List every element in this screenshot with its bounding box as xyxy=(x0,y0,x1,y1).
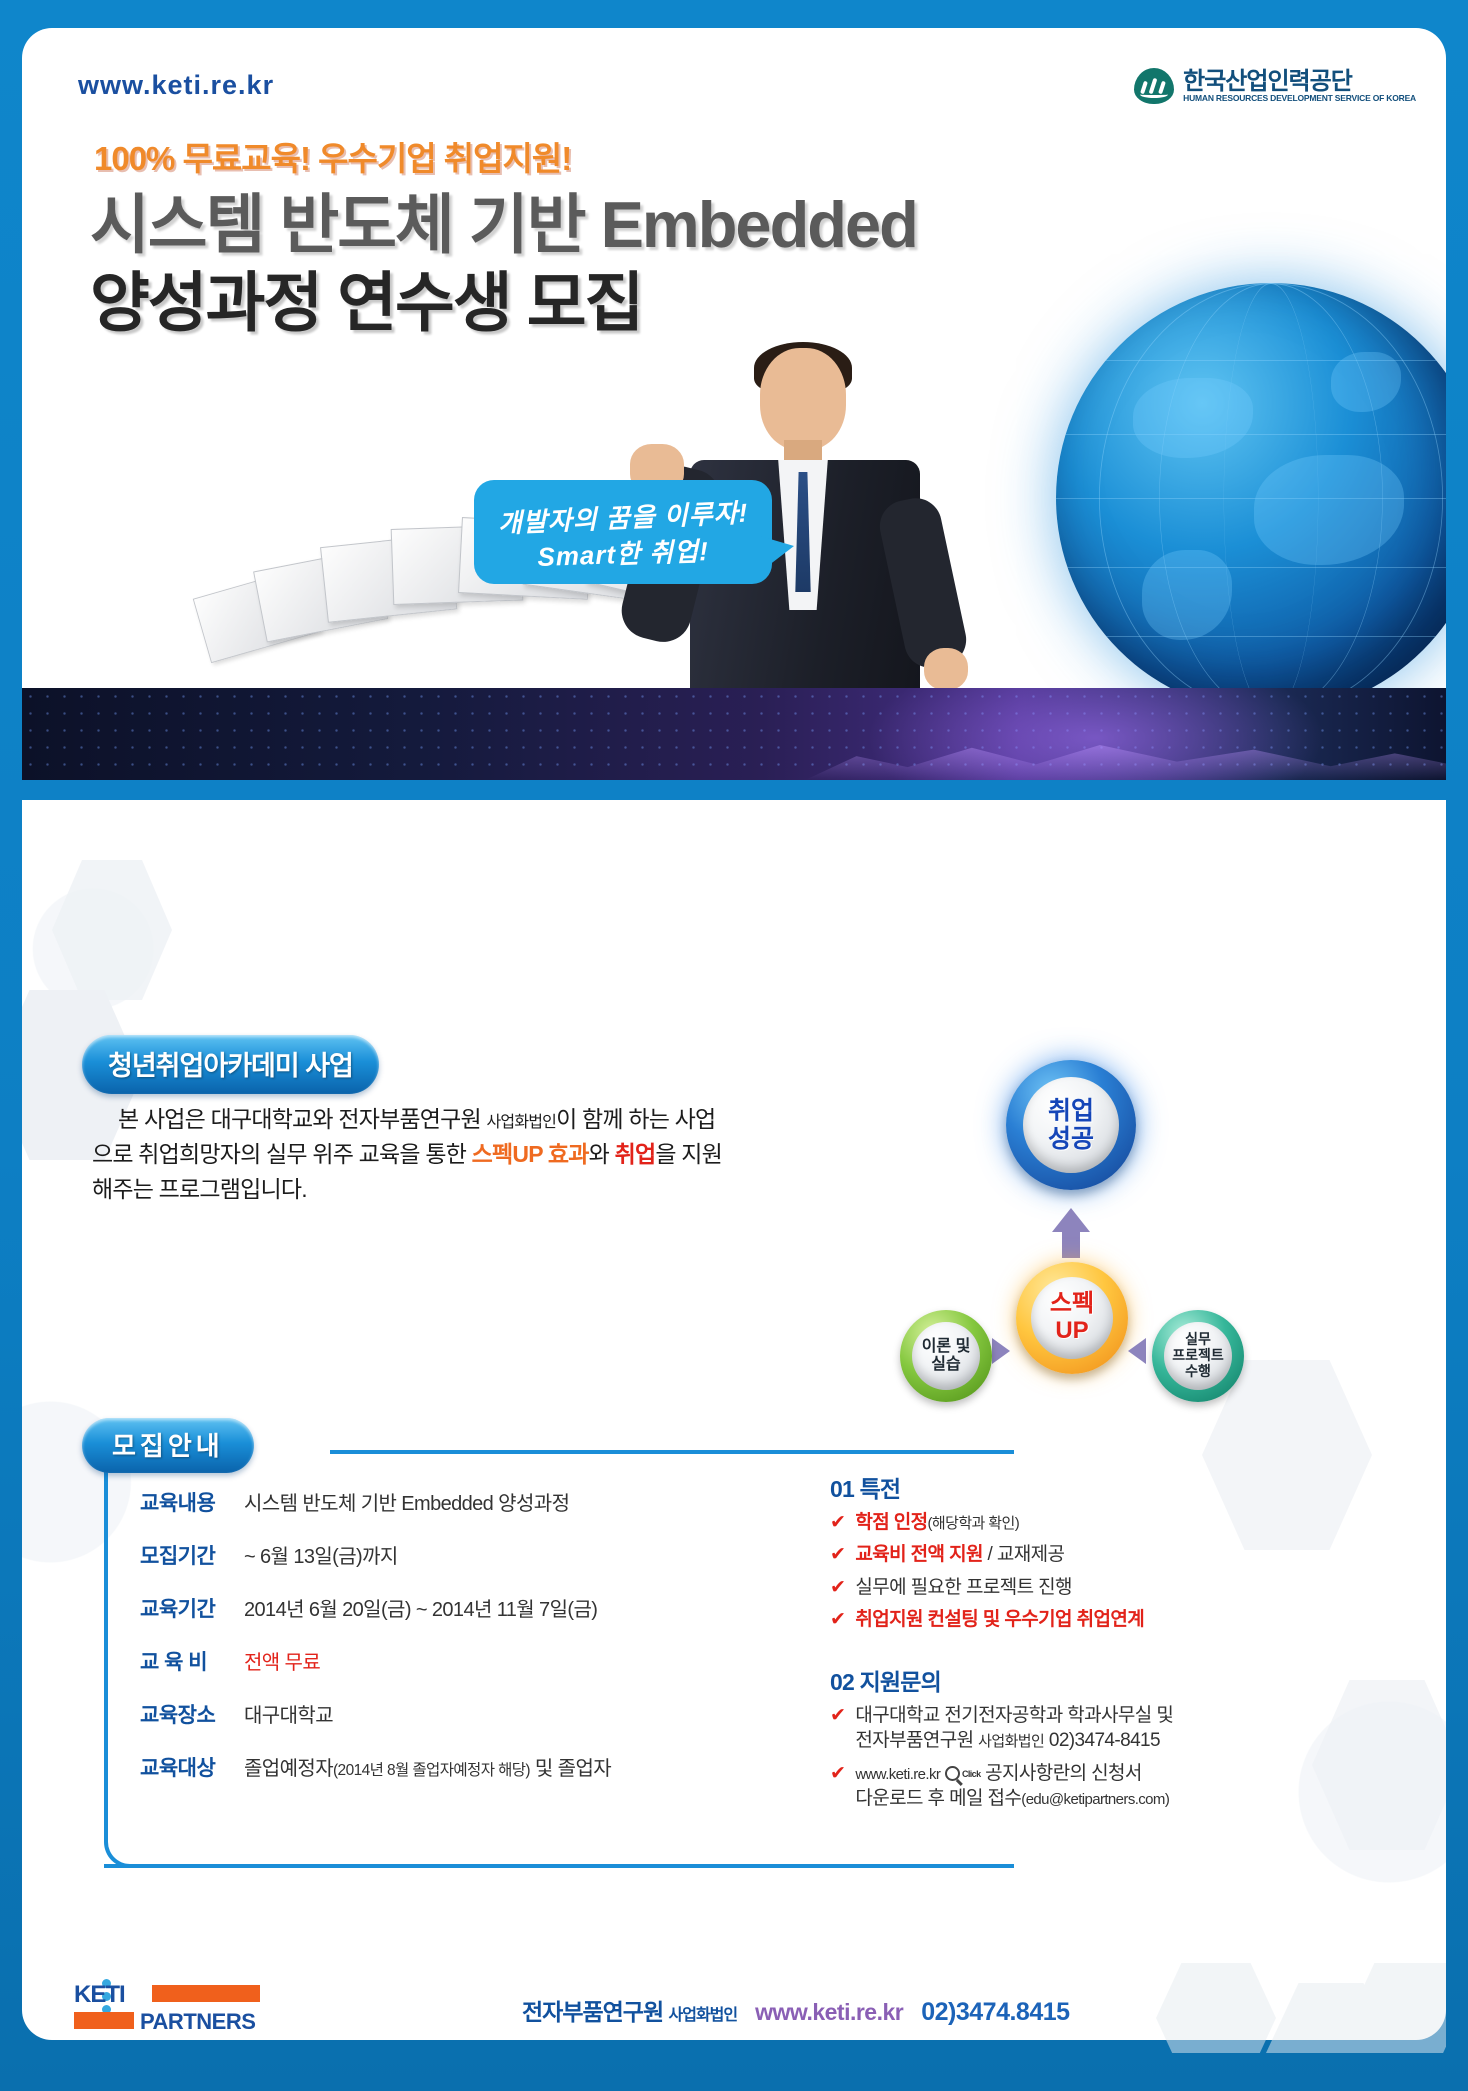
hrdk-logo: 한국산업인력공단 HUMAN RESOURCES DEVELOPMENT SER… xyxy=(1134,68,1416,104)
program-desc-highlight-spec: 스펙UP 효과 xyxy=(472,1141,589,1167)
orb-theory-practice: 이론 및 실습 xyxy=(900,1310,992,1402)
check-icon: ✔ xyxy=(830,1761,845,1812)
hrdk-logo-text: 한국산업인력공단 HUMAN RESOURCES DEVELOPMENT SER… xyxy=(1183,69,1416,103)
inquiry-line2-note: 사업화법인 xyxy=(978,1733,1044,1750)
decorative-banner-strip xyxy=(22,688,1446,780)
footer-org-note: 사업화법인 xyxy=(669,2007,738,2024)
row-label: 교육내용 xyxy=(140,1487,244,1517)
recruit-box-topline xyxy=(330,1450,1014,1454)
footer-phone: 02)3474.8415 xyxy=(921,1998,1069,2027)
check-icon: ✔ xyxy=(830,1607,845,1632)
recruit-section-title: 모집안내 xyxy=(82,1418,254,1473)
check-icon: ✔ xyxy=(830,1703,845,1754)
inquiry-line2-main: 전자부품연구원 xyxy=(855,1730,978,1751)
hero-panel: www.keti.re.kr 한국산업인력공단 HUMAN RESOURCES … xyxy=(22,28,1446,688)
program-desc-part1: 본 사업은 대구대학교와 전자부품연구원 xyxy=(118,1106,486,1132)
row-value: 시스템 반도체 기반 Embedded 양성과정 xyxy=(244,1487,569,1516)
benefit-main: 취업지원 컨설팅 및 우수기업 취업연계 xyxy=(855,1607,1144,1632)
logo-partners-text: PARTNERS xyxy=(140,2009,255,2035)
click-cursor-icon: Click xyxy=(945,1766,981,1781)
footer-contact: 전자부품연구원 사업화법인 www.keti.re.kr 02)3474.841… xyxy=(522,1993,1070,2027)
list-item: ✔ 취업지원 컨설팅 및 우수기업 취업연계 xyxy=(830,1607,1350,1632)
row-label: 모집기간 xyxy=(140,1540,244,1570)
table-row: 교육장소 대구대학교 xyxy=(140,1699,610,1729)
spec-up-diagram: 취업 성공 스펙 UP 이론 및 실습 xyxy=(900,1060,1280,1390)
orb-spec-line2: UP xyxy=(1050,1318,1094,1345)
orb-success-line1: 취업 xyxy=(1048,1097,1094,1125)
benefits-heading: 01 특전 xyxy=(830,1470,1350,1504)
recruit-box-bottomline xyxy=(104,1864,144,1868)
globe-graphic xyxy=(1056,283,1446,688)
list-item: ✔ 교육비 전액 지원 / 교재제공 xyxy=(830,1542,1350,1567)
logo-bar xyxy=(74,2012,134,2029)
hero-headline-line2: 양성과정 연수생 모집 xyxy=(90,250,642,344)
row-label: 교 육 비 xyxy=(140,1646,244,1676)
table-row: 교 육 비 전액 무료 xyxy=(140,1646,610,1676)
orb-right-line1: 실무 xyxy=(1172,1332,1224,1348)
row-value-note: (2014년 8월 졸업자예정자 해당) xyxy=(333,1762,530,1779)
benefit-tail: / 교재제공 xyxy=(983,1544,1065,1565)
logo-bar xyxy=(152,1985,260,2002)
orb-right-line2: 프로젝트 xyxy=(1172,1348,1224,1364)
check-icon: ✔ xyxy=(830,1542,845,1567)
poster-root: www.keti.re.kr 한국산업인력공단 HUMAN RESOURCES … xyxy=(0,0,1468,2091)
inquiry-heading: 02 지원문의 xyxy=(830,1663,1350,1697)
table-row: 교육기간 2014년 6월 20일(금) ~ 2014년 11월 7일(금) xyxy=(140,1593,610,1623)
row-value: ~ 6월 13일(금)까지 xyxy=(244,1540,398,1569)
footer-org: 전자부품연구원 사업화법인 xyxy=(522,1993,737,2027)
hrdk-mark-icon xyxy=(1134,68,1174,104)
inquiry-line4-main: 다운로드 후 메일 접수 xyxy=(855,1788,1021,1809)
program-desc-small1: 사업화법인 xyxy=(486,1114,556,1131)
recruit-info-list: 교육내용 시스템 반도체 기반 Embedded 양성과정 모집기간 ~ 6월 … xyxy=(140,1487,610,1805)
row-value: 전액 무료 xyxy=(244,1646,320,1675)
list-item: ✔ www.keti.re.kr Click 공지사항란의 신청서 다운로드 후… xyxy=(830,1761,1350,1812)
row-value-tail: 및 졸업자 xyxy=(530,1758,611,1780)
website-url[interactable]: www.keti.re.kr xyxy=(78,70,274,101)
logo-keti-text: KETI xyxy=(74,1981,125,2009)
row-value-main: 졸업예정자 xyxy=(244,1758,333,1780)
orb-field-project: 실무 프로젝트 수행 xyxy=(1152,1310,1244,1402)
program-desc-part3: 와 xyxy=(589,1141,615,1167)
hrdk-name-kr: 한국산업인력공단 xyxy=(1183,69,1416,94)
check-icon: ✔ xyxy=(830,1575,845,1600)
row-label: 교육기간 xyxy=(140,1593,244,1623)
click-label: Click xyxy=(962,1768,981,1780)
orb-left-line2: 실습 xyxy=(922,1356,971,1374)
program-desc-highlight-job: 취업 xyxy=(615,1141,656,1167)
inquiry-phone: 02)3474-8415 xyxy=(1044,1730,1160,1751)
footer-hex-decor xyxy=(1116,1963,1446,2053)
table-row: 교육대상 졸업예정자(2014년 8월 졸업자예정자 해당) 및 졸업자 xyxy=(140,1752,610,1782)
inquiry-line1: 대구대학교 전기전자공학과 학과사무실 및 xyxy=(855,1705,1173,1726)
arrow-left-icon xyxy=(1128,1338,1146,1364)
footer-org-main: 전자부품연구원 xyxy=(522,1999,669,2025)
orb-right-line3: 수행 xyxy=(1172,1364,1224,1380)
inquiry-email: (edu@ketipartners.com) xyxy=(1021,1791,1169,1808)
list-item: ✔ 실무에 필요한 프로젝트 진행 xyxy=(830,1575,1350,1600)
hrdk-name-en: HUMAN RESOURCES DEVELOPMENT SERVICE OF K… xyxy=(1183,94,1416,103)
footer: KETI PARTNERS 전자부품연구원 사업화법인 www.keti.re.… xyxy=(22,1975,1446,2041)
benefits-and-inquiry-column: 01 특전 ✔ 학점 인정(해당학과 확인) ✔ 교육비 전액 지원 / 교재제… xyxy=(830,1470,1350,1819)
benefit-note: (해당학과 확인) xyxy=(928,1515,1020,1532)
arrow-up-icon xyxy=(1052,1208,1090,1232)
row-label: 교육장소 xyxy=(140,1699,244,1729)
orb-left-line1: 이론 및 xyxy=(922,1338,971,1356)
benefit-main: 교육비 전액 지원 xyxy=(855,1544,983,1565)
inquiry-url[interactable]: www.keti.re.kr xyxy=(855,1766,940,1783)
row-value: 졸업예정자(2014년 8월 졸업자예정자 해당) 및 졸업자 xyxy=(244,1752,611,1781)
orb-spec-line1: 스펙 xyxy=(1050,1291,1094,1318)
inquiry-line3: 공지사항란의 신청서 xyxy=(985,1763,1142,1784)
table-row: 교육내용 시스템 반도체 기반 Embedded 양성과정 xyxy=(140,1487,610,1517)
program-section-title: 청년취업아카데미 사업 xyxy=(82,1035,379,1094)
check-icon: ✔ xyxy=(830,1510,845,1535)
arrow-right-icon xyxy=(992,1338,1010,1364)
row-value: 대구대학교 xyxy=(244,1699,333,1728)
list-item: ✔ 학점 인정(해당학과 확인) xyxy=(830,1510,1350,1535)
keti-partners-logo: KETI PARTNERS xyxy=(74,1979,284,2037)
list-item: ✔ 대구대학교 전기전자공학과 학과사무실 및 전자부품연구원 사업화법인 02… xyxy=(830,1703,1350,1754)
orb-spec-up: 스펙 UP xyxy=(1016,1262,1128,1374)
orb-success-line2: 성공 xyxy=(1048,1125,1094,1153)
benefit-main: 학점 인정 xyxy=(855,1512,927,1533)
row-value: 2014년 6월 20일(금) ~ 2014년 11월 7일(금) xyxy=(244,1593,597,1622)
table-row: 모집기간 ~ 6월 13일(금)까지 xyxy=(140,1540,610,1570)
program-description: 본 사업은 대구대학교와 전자부품연구원 사업화법인이 함께 하는 사업으로 취… xyxy=(92,1102,732,1207)
row-label: 교육대상 xyxy=(140,1752,244,1782)
footer-url[interactable]: www.keti.re.kr xyxy=(755,1999,903,2026)
speech-bubble: 개발자의 꿈을 이루자! Smart한 취업! xyxy=(474,480,772,584)
benefit-main: 실무에 필요한 프로젝트 진행 xyxy=(855,1575,1072,1600)
orb-job-success: 취업 성공 xyxy=(1006,1060,1136,1190)
